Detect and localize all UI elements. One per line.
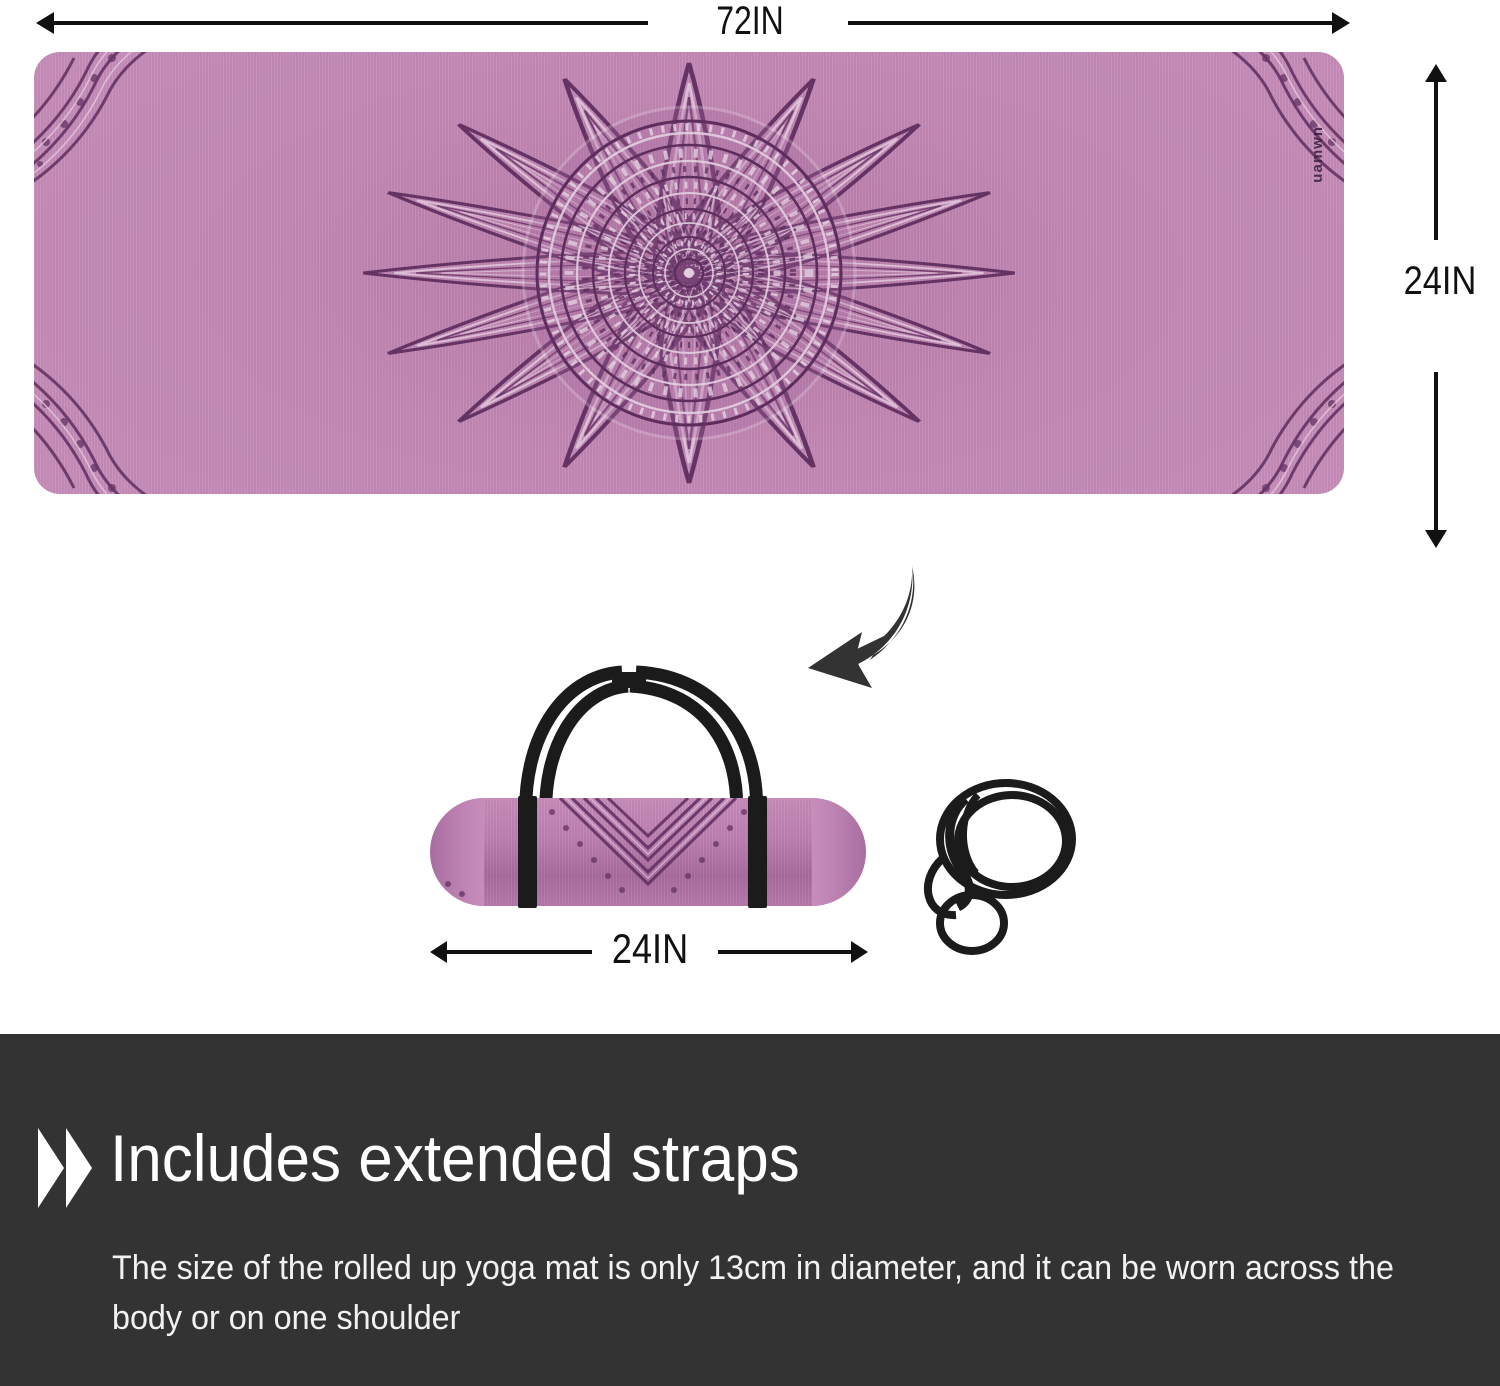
mandala-pattern	[99, 53, 1279, 493]
mat-length-dimension: 72IN	[0, 0, 1500, 46]
mat-width-label: 24IN	[1385, 256, 1495, 306]
shoulder-strap-icon	[400, 650, 900, 820]
strap-band-left	[518, 796, 537, 908]
roll-length-dimension: 24IN	[400, 925, 900, 981]
dimension-line-bottom	[1434, 372, 1438, 530]
roll-pattern	[430, 798, 866, 906]
roll-length-label: 24IN	[435, 921, 865, 977]
arrow-down-icon	[1425, 530, 1447, 548]
yoga-mat-flat: uamwn	[34, 52, 1344, 494]
rolled-mat	[430, 798, 866, 906]
coiled-strap-icon	[900, 775, 1090, 960]
dimension-line-right	[848, 21, 1340, 25]
double-chevron-right-icon	[38, 1128, 100, 1208]
mat-width-dimension: 24IN	[1380, 60, 1500, 510]
product-infographic: 72IN	[0, 0, 1500, 1386]
banner-headline: Includes extended straps	[110, 1112, 800, 1204]
arrow-right-icon	[1332, 12, 1350, 34]
strap-band-right	[748, 796, 767, 908]
arrow-up-icon	[1425, 64, 1447, 82]
banner-subtext: The size of the rolled up yoga mat is on…	[112, 1243, 1404, 1343]
dimension-line-right	[718, 950, 858, 954]
brand-logo: uamwn	[1309, 126, 1326, 183]
dimension-line-top	[1434, 82, 1438, 240]
arrow-right-icon	[851, 941, 868, 963]
rolled-mat-with-strap	[400, 650, 900, 920]
